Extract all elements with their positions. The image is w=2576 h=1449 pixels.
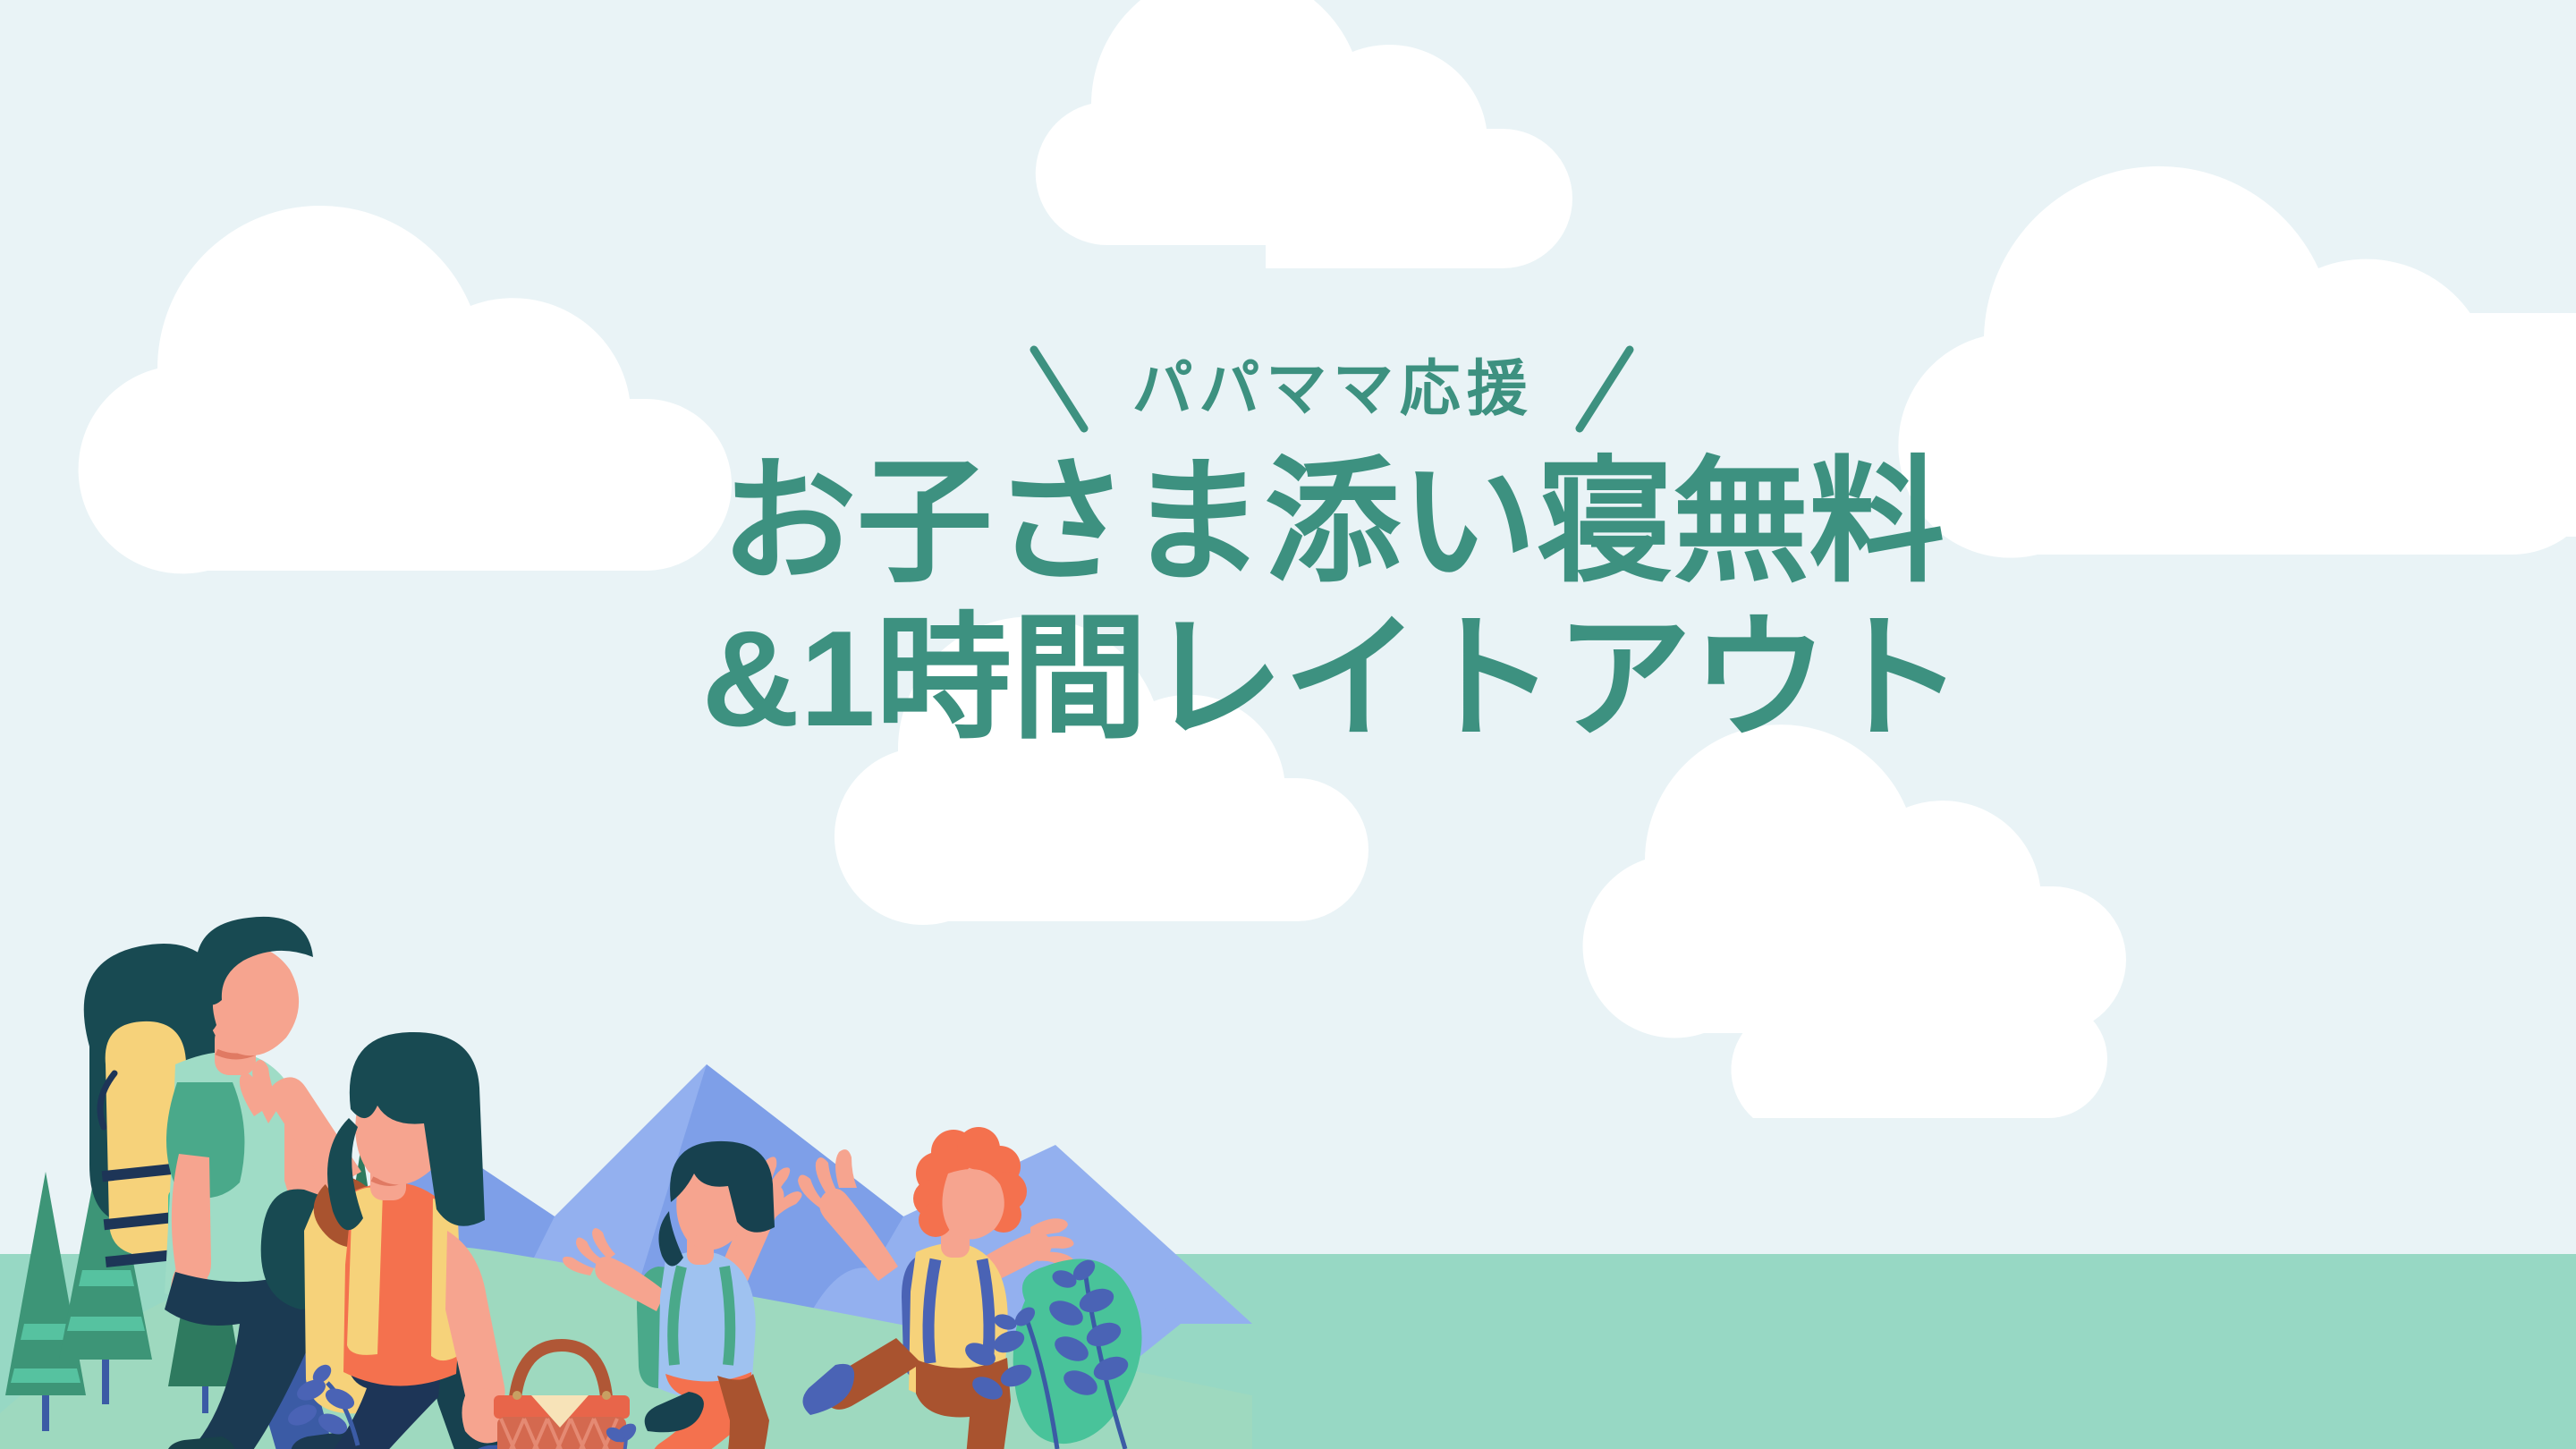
illustration-svg <box>0 769 1252 1449</box>
cloud-top-center <box>1036 0 1572 268</box>
hiking-family-illustration <box>0 769 1252 1449</box>
page-title: お子さま添い寝無料 &1時間レイトアウト <box>572 451 2093 751</box>
promo-banner: パパママ応援 お子さま添い寝無料 &1時間レイトアウト <box>0 0 2576 1449</box>
headline-line-1: お子さま添い寝無料 <box>572 451 2093 595</box>
headline-line-2: &1時間レイトアウト <box>572 607 2093 751</box>
right-slash-icon <box>1574 343 1637 436</box>
copy-block: パパママ応援 お子さま添い寝無料 &1時間レイトアウト <box>572 340 2093 751</box>
left-slash-icon <box>1029 343 1091 436</box>
eyebrow-row: パパママ応援 <box>572 340 2093 438</box>
eyebrow-label: パパママ応援 <box>1132 359 1534 419</box>
